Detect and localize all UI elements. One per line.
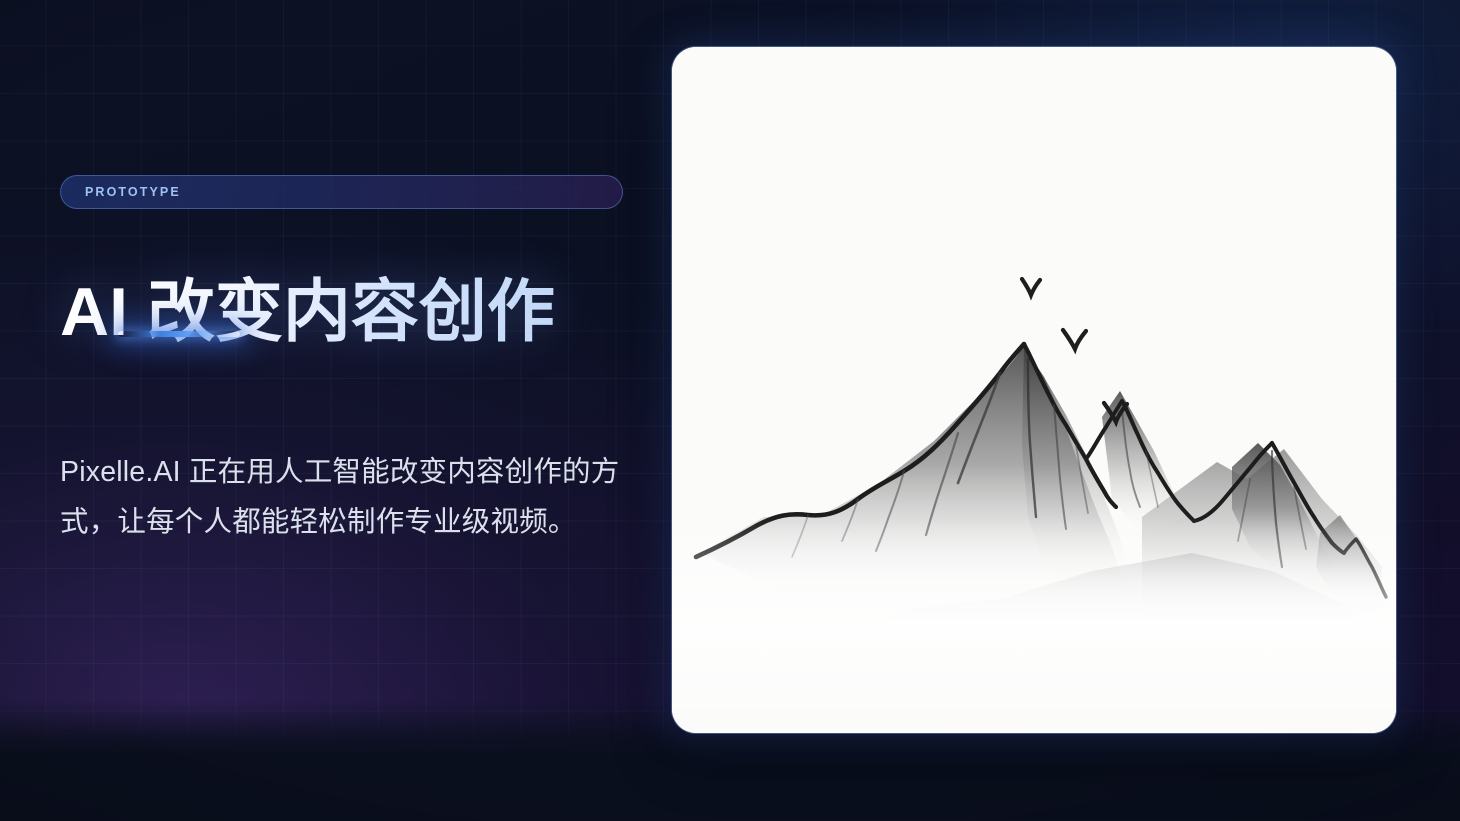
page-title: AI 改变内容创作 [60,276,555,349]
body-paragraph: Pixelle.AI 正在用人工智能改变内容创作的方式，让每个人都能轻松制作专业… [60,447,630,548]
media-card [672,47,1396,733]
slide-canvas: PROTOTYPE AI 改变内容创作 Pixelle.AI 正在用人工智能改变… [0,0,1460,821]
prototype-badge: PROTOTYPE [60,175,623,209]
ink-mountain-illustration [672,47,1396,733]
prototype-badge-label: PROTOTYPE [85,185,181,199]
left-content-column: PROTOTYPE AI 改变内容创作 Pixelle.AI 正在用人工智能改变… [60,0,640,821]
title-accent-underline [118,331,240,337]
